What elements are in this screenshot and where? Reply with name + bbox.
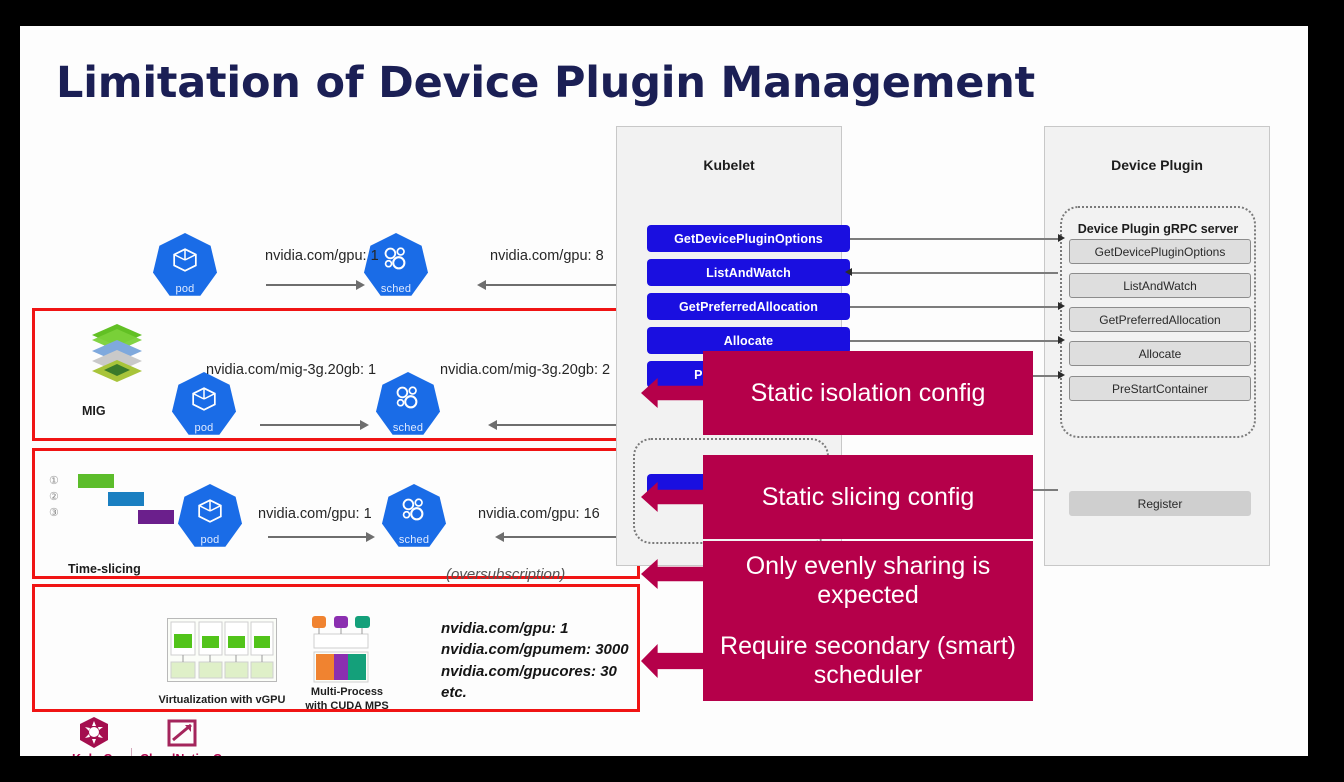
timeslice-bar-3: [138, 510, 174, 524]
cuda-mps-diagram-thumbnail: [310, 614, 372, 684]
row-1-request-arrow: [260, 424, 360, 426]
row-1-sched-label: sched: [376, 422, 440, 434]
row-0-request-arrowhead: [356, 280, 365, 290]
row-0-capacity-arrowhead: [477, 280, 486, 290]
callout-2: Only evenly sharing is expected: [703, 541, 1033, 621]
row-2-tag: Time-slicing: [68, 562, 141, 576]
kubelet-rpc-list-and-watch[interactable]: ListAndWatch: [647, 259, 850, 286]
cloudnativecon-icon: [166, 718, 198, 748]
row-0-pod-label: pod: [153, 283, 217, 295]
device-plugin-rpc-pre-start-container[interactable]: PreStartContainer: [1069, 376, 1251, 401]
row-0-pod-icon: pod: [153, 233, 217, 297]
row-1-request-label: nvidia.com/mig-3g.20gb: 1: [206, 362, 376, 378]
sched-gears-icon: [399, 497, 429, 525]
grpc-conn-4-head: [1058, 371, 1065, 379]
oversubscription-note: (oversubscription): [446, 566, 565, 583]
bottom-resources-list: nvidia.com/gpu: 1 nvidia.com/gpumem: 300…: [441, 618, 629, 703]
logo-divider: [131, 748, 132, 756]
device-plugin-grpc-server-title: Device Plugin gRPC server: [1060, 222, 1256, 236]
row-1-request-arrowhead: [360, 420, 369, 430]
row-1-tag: MIG: [82, 404, 106, 418]
callout-3: Require secondary (smart) scheduler: [703, 621, 1033, 701]
timeslice-bar-1: [78, 474, 114, 488]
row-1-sched-icon: sched: [376, 372, 440, 436]
pod-cube-icon: [172, 247, 198, 273]
kubelet-rpc-get-device-plugin-options[interactable]: GetDevicePluginOptions: [647, 225, 850, 252]
device-plugin-rpc-register[interactable]: Register: [1069, 491, 1251, 516]
timeslice-bar-2: [108, 492, 144, 506]
row-0-capacity-arrow: [486, 284, 631, 286]
grpc-conn-2: [850, 306, 1058, 308]
cloudnativecon-label: CloudNativeCon: [140, 752, 237, 756]
row-2-sched-icon: sched: [382, 484, 446, 548]
mig-stack-icon: [86, 320, 148, 386]
pod-cube-icon: [197, 498, 223, 524]
page-title: Limitation of Device Plugin Management: [56, 58, 1035, 108]
grpc-conn-3-head: [1058, 336, 1065, 344]
device-plugin-rpc-list-and-watch[interactable]: ListAndWatch: [1069, 273, 1251, 298]
slide-frame: Limitation of Device Plugin Management p…: [0, 0, 1344, 782]
row-0-request-arrow: [266, 284, 356, 286]
row-0-sched-icon: sched: [364, 233, 428, 297]
timeslice-marker-2: ②: [49, 490, 59, 503]
sched-gears-icon: [381, 246, 411, 274]
kubelet-panel-title: Kubelet: [616, 157, 842, 173]
vgpu-diagram-thumbnail: [167, 618, 277, 682]
callout-1: Static slicing config: [703, 455, 1033, 539]
slide-canvas: Limitation of Device Plugin Management p…: [20, 26, 1308, 756]
sched-gears-icon: [393, 385, 423, 413]
timeslice-marker-3: ③: [49, 506, 59, 519]
kubelet-rpc-get-preferred-allocation[interactable]: GetPreferredAllocation: [647, 293, 850, 320]
grpc-conn-1-head: [845, 268, 852, 276]
device-plugin-rpc-get-device-plugin-options[interactable]: GetDevicePluginOptions: [1069, 239, 1251, 264]
grpc-conn-3: [850, 340, 1058, 342]
row-0-capacity-label: nvidia.com/gpu: 8: [490, 248, 604, 264]
grpc-conn-0-head: [1058, 234, 1065, 242]
row-2-pod-icon: pod: [178, 484, 242, 548]
row-1-pod-icon: pod: [172, 372, 236, 436]
callout-0: Static isolation config: [703, 351, 1033, 435]
row-2-request-label: nvidia.com/gpu: 1: [258, 506, 372, 522]
row-2-capacity-label: nvidia.com/gpu: 16: [478, 506, 600, 522]
pod-cube-icon: [191, 386, 217, 412]
row-1-capacity-label: nvidia.com/mig-3g.20gb: 2: [440, 362, 610, 378]
row-2-request-arrow: [268, 536, 366, 538]
row-2-request-arrowhead: [366, 532, 375, 542]
grpc-conn-0: [850, 238, 1058, 240]
kubelet-rpc-allocate[interactable]: Allocate: [647, 327, 850, 354]
row-1-capacity-arrowhead: [488, 420, 497, 430]
timeslice-marker-1: ①: [49, 474, 59, 487]
row-2-pod-label: pod: [178, 534, 242, 546]
row-0-sched-label: sched: [364, 283, 428, 295]
row-2-capacity-arrowhead: [495, 532, 504, 542]
row-0-request-label: nvidia.com/gpu: 1: [265, 248, 379, 264]
kubecon-logo: KubeCon CloudNativeCon North America 202…: [68, 716, 253, 756]
device-plugin-rpc-allocate[interactable]: Allocate: [1069, 341, 1251, 366]
device-plugin-panel-title: Device Plugin: [1044, 157, 1270, 173]
kubernetes-wheel-icon: [76, 716, 112, 750]
device-plugin-rpc-get-preferred-allocation[interactable]: GetPreferredAllocation: [1069, 307, 1251, 332]
mps-caption: Multi-Process with CUDA MPS: [292, 686, 402, 714]
row-2-sched-label: sched: [382, 534, 446, 546]
grpc-conn-2-head: [1058, 302, 1065, 310]
row-1-pod-label: pod: [172, 422, 236, 434]
callout-3-arrow: [641, 644, 705, 678]
grpc-conn-1: [850, 272, 1058, 274]
vgpu-caption: Virtualization with vGPU: [152, 694, 292, 708]
kubecon-label: KubeCon: [72, 752, 128, 756]
